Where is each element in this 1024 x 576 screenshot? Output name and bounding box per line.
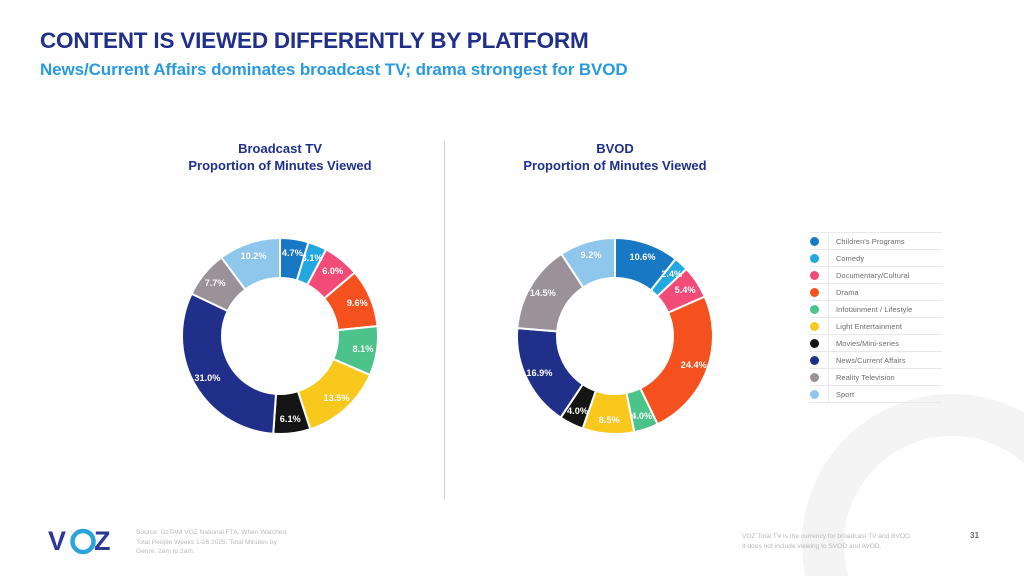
legend-item-label: Comedy <box>836 254 864 263</box>
donut-svg <box>130 186 430 486</box>
legend-separator <box>828 386 829 402</box>
legend-color-swatch-icon <box>810 305 819 314</box>
slide-canvas: CONTENT IS VIEWED DIFFERENTLY BY PLATFOR… <box>0 0 1024 576</box>
legend-item[interactable]: Movies/Mini-series <box>810 335 942 352</box>
page-subtitle: News/Current Affairs dominates broadcast… <box>40 60 628 80</box>
legend-separator <box>828 318 829 334</box>
legend-separator <box>828 284 829 300</box>
legend-separator <box>828 301 829 317</box>
voz-logo: V Z <box>48 524 120 563</box>
legend-item-label: Movies/Mini-series <box>836 339 899 348</box>
chart-title-line2: Proportion of Minutes Viewed <box>130 157 430 174</box>
legend-item-label: Reality Television <box>836 373 895 382</box>
footer-source-text: Source: OzTAM VOZ National FTA, When Wat… <box>136 528 288 557</box>
legend-color-swatch-icon <box>810 254 819 263</box>
legend-item[interactable]: Light Entertainment <box>810 318 942 335</box>
legend-item[interactable]: Infotainment / Lifestyle <box>810 301 942 318</box>
legend-item[interactable]: Children's Programs <box>810 232 942 250</box>
legend-item[interactable]: Sport <box>810 386 942 403</box>
legend-item-label: Drama <box>836 288 859 297</box>
legend-item-label: News/Current Affairs <box>836 356 906 365</box>
legend-separator <box>828 250 829 266</box>
chart-title-broadcast-tv: Broadcast TV Proportion of Minutes Viewe… <box>130 140 430 174</box>
chart-title-line2: Proportion of Minutes Viewed <box>465 157 765 174</box>
donut-segment[interactable] <box>640 297 713 425</box>
donut-segment[interactable] <box>298 359 370 429</box>
legend-separator <box>828 369 829 385</box>
donut-svg <box>465 186 765 486</box>
legend-color-swatch-icon <box>810 356 819 365</box>
legend-item[interactable]: Reality Television <box>810 369 942 386</box>
svg-text:Z: Z <box>94 526 110 556</box>
legend-color-swatch-icon <box>810 373 819 382</box>
legend-separator <box>828 352 829 368</box>
footer-note-text: VOZ Total TV is the currency for broadca… <box>742 532 912 551</box>
chart-title-line1: BVOD <box>596 141 634 156</box>
legend-separator <box>828 267 829 283</box>
donut-chart-broadcast-tv: 4.7%3.1%6.0%9.6%8.1%13.5%6.1%31.0%7.7%10… <box>130 186 430 486</box>
panel-divider <box>444 141 445 499</box>
page-number: 31 <box>970 531 979 540</box>
legend-color-swatch-icon <box>810 322 819 331</box>
legend-item[interactable]: News/Current Affairs <box>810 352 942 369</box>
chart-title-bvod: BVOD Proportion of Minutes Viewed <box>465 140 765 174</box>
chart-panel-bvod: BVOD Proportion of Minutes Viewed 10.6%2… <box>465 140 765 486</box>
page-title: CONTENT IS VIEWED DIFFERENTLY BY PLATFOR… <box>40 28 589 54</box>
legend-item-label: Documentary/Cultural <box>836 271 909 280</box>
legend-separator <box>828 335 829 351</box>
legend-color-swatch-icon <box>810 288 819 297</box>
legend-color-swatch-icon <box>810 339 819 348</box>
legend-separator <box>828 233 829 249</box>
legend-color-swatch-icon <box>810 237 819 246</box>
legend-item-label: Light Entertainment <box>836 322 902 331</box>
donut-chart-bvod: 10.6%2.4%5.4%24.4%4.0%8.5%4.0%16.9%14.5%… <box>465 186 765 486</box>
svg-text:V: V <box>48 526 66 556</box>
legend-color-swatch-icon <box>810 271 819 280</box>
chart-panel-broadcast-tv: Broadcast TV Proportion of Minutes Viewe… <box>130 140 430 486</box>
donut-segment[interactable] <box>182 294 276 434</box>
legend-color-swatch-icon <box>810 390 819 399</box>
chart-legend: Children's ProgramsComedyDocumentary/Cul… <box>810 232 942 403</box>
legend-item-label: Children's Programs <box>836 237 905 246</box>
legend-item[interactable]: Drama <box>810 284 942 301</box>
legend-item[interactable]: Documentary/Cultural <box>810 267 942 284</box>
chart-title-line1: Broadcast TV <box>238 141 322 156</box>
legend-item-label: Infotainment / Lifestyle <box>836 305 912 314</box>
legend-item[interactable]: Comedy <box>810 250 942 267</box>
legend-item-label: Sport <box>836 390 854 399</box>
